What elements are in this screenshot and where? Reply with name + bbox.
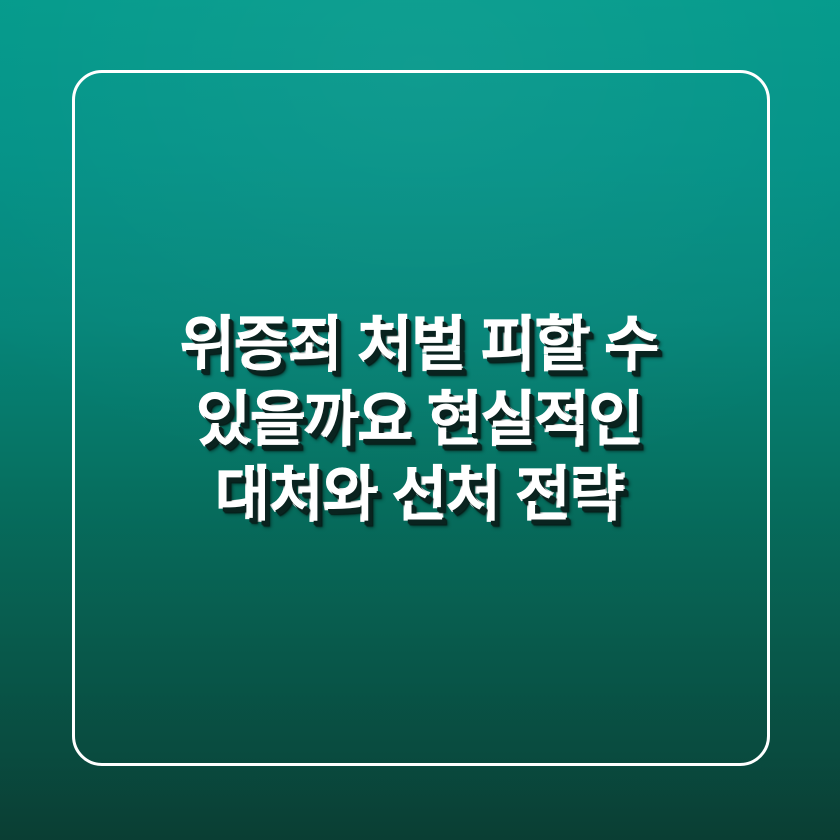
page-title: 위증죄 처벌 피할 수 있을까요 현실적인 대처와 선처 전략 — [181, 308, 659, 533]
title-line-3: 대처와 선처 전략 — [181, 458, 659, 533]
title-line-2: 있을까요 현실적인 — [181, 383, 659, 458]
title-block: 위증죄 처벌 피할 수 있을까요 현실적인 대처와 선처 전략 — [0, 0, 840, 840]
thumbnail-canvas: 위증죄 처벌 피할 수 있을까요 현실적인 대처와 선처 전략 — [0, 0, 840, 840]
title-line-1: 위증죄 처벌 피할 수 — [181, 308, 659, 383]
